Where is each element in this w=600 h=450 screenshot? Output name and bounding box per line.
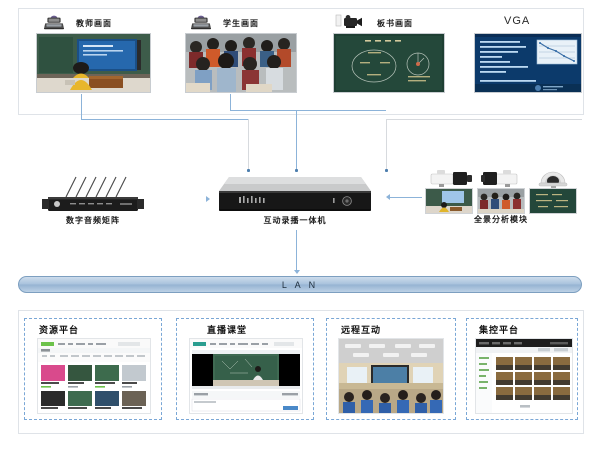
connector-right-horizontal <box>386 119 582 120</box>
connector-teacher-drop <box>248 119 249 169</box>
app-live-classroom[interactable]: 直播课堂 <box>176 318 314 420</box>
source-student-label: 学生画面 <box>223 18 259 29</box>
app-central-control[interactable]: 集控平台 <box>466 318 578 420</box>
laptop-icon <box>191 14 211 30</box>
panorama-thumb-teacher <box>425 188 473 214</box>
connector-lan-arrowhead <box>294 270 300 274</box>
source-teacher[interactable]: 教师画面 <box>36 12 151 94</box>
source-vga-label: VGA <box>504 15 530 27</box>
app-live-classroom-title: 直播课堂 <box>207 323 247 336</box>
device-audio-matrix[interactable]: 数字音频矩阵 <box>42 173 144 229</box>
app-remote-interaction[interactable]: 远程互动 <box>326 318 456 420</box>
lan-label: L A N <box>19 277 581 294</box>
panorama-thumb-students <box>477 188 525 214</box>
connector-dot-center <box>295 169 298 172</box>
recorder-appliance-icon <box>215 175 375 215</box>
device-recorder-label: 互动录播一体机 <box>215 215 375 226</box>
source-blackboard[interactable]: 板书画面 <box>333 12 445 94</box>
box-camera-icon <box>481 168 525 188</box>
connector-center-drop <box>296 110 297 169</box>
diagram-canvas: 教师画面 <box>0 0 600 450</box>
connector-panorama-arrowhead <box>386 194 390 200</box>
connector-dot-teacher <box>247 169 250 172</box>
connector-right-drop <box>386 119 387 169</box>
app-resource-platform-title: 资源平台 <box>39 323 79 336</box>
source-vga-thumb <box>474 33 582 93</box>
connector-teacher-horizontal <box>81 119 248 120</box>
connector-student-vertical <box>230 94 231 110</box>
source-blackboard-label: 板书画面 <box>377 18 413 29</box>
connector-student-horizontal <box>230 110 386 111</box>
app-central-control-screenshot <box>475 338 573 414</box>
connector-dot-right <box>385 169 388 172</box>
source-blackboard-thumb <box>333 33 445 93</box>
panorama-thumb-blackboard <box>529 188 577 214</box>
source-teacher-thumb <box>36 33 151 93</box>
device-panorama-label: 全景分析模块 <box>425 214 577 225</box>
connector-panorama-to-recorder <box>390 197 422 198</box>
dome-camera-icon <box>535 168 575 188</box>
source-student[interactable]: 学生画面 <box>185 12 297 94</box>
connector-teacher-vertical <box>81 94 82 119</box>
device-recorder[interactable]: 互动录播一体机 <box>215 175 375 229</box>
source-teacher-label: 教师画面 <box>76 18 112 29</box>
video-camera-icon <box>335 13 365 31</box>
device-panorama-module[interactable]: 全景分析模块 <box>425 168 577 228</box>
app-resource-platform-screenshot <box>37 338 151 414</box>
source-vga[interactable]: VGA <box>474 12 582 94</box>
app-live-classroom-screenshot <box>189 338 303 414</box>
connector-recorder-to-lan <box>296 230 297 270</box>
audio-matrix-rack-icon <box>42 173 144 215</box>
app-resource-platform[interactable]: 资源平台 <box>24 318 162 420</box>
recorder-input-arrow <box>206 196 210 202</box>
app-central-control-title: 集控平台 <box>479 323 519 336</box>
device-audio-matrix-label: 数字音频矩阵 <box>42 215 144 226</box>
app-remote-interaction-screenshot <box>338 338 444 414</box>
source-student-thumb <box>185 33 297 93</box>
lan-bar: L A N <box>18 276 582 293</box>
laptop-icon <box>44 14 64 30</box>
box-camera-icon <box>429 168 473 188</box>
app-remote-interaction-title: 远程互动 <box>341 323 381 336</box>
